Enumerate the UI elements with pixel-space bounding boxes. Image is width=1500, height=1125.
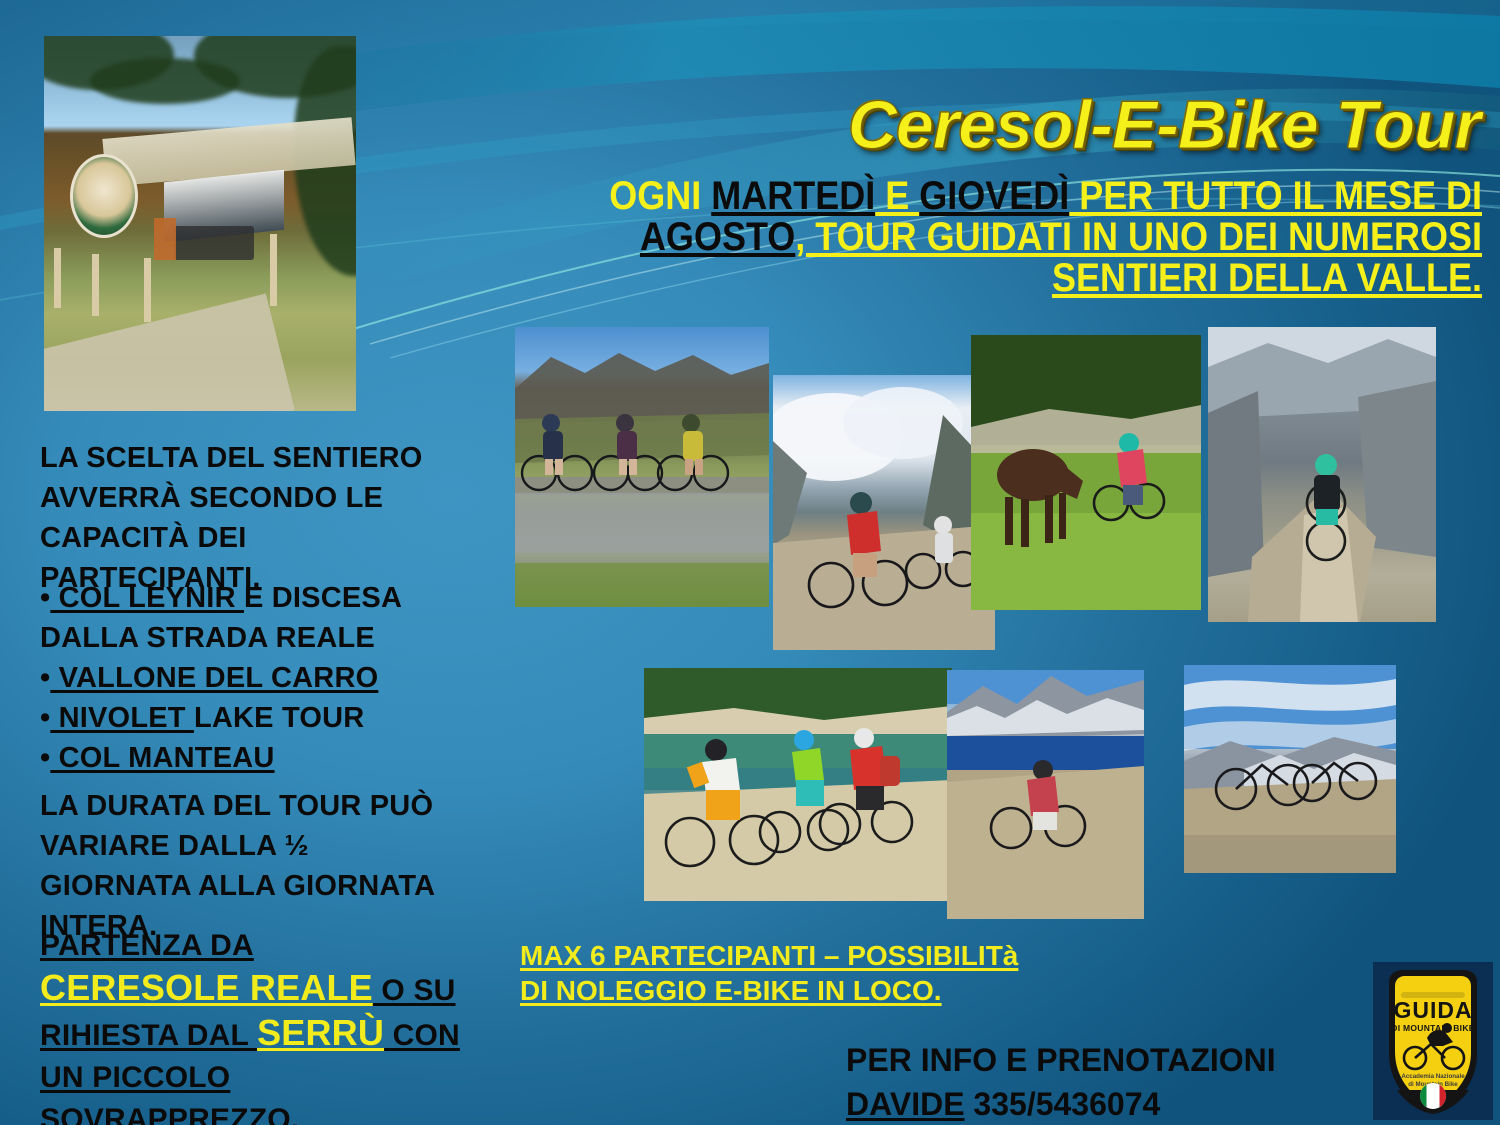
subtitle-part-ogni: OGNI <box>609 174 711 218</box>
list-item-link: VALLONE DEL CARRO <box>50 662 378 694</box>
photo-3 <box>971 335 1201 610</box>
partenza-place-serru: SERRÙ <box>257 1012 384 1053</box>
photo-1 <box>515 327 769 607</box>
photo-5-figures <box>644 668 952 901</box>
list-item: • NIVOLET LAKE TOUR <box>40 698 460 738</box>
bullet-glyph: • <box>40 702 50 734</box>
subtitle-part-e: E <box>875 174 919 218</box>
subtitle-part-martedi: MARTEDÌ <box>711 174 875 218</box>
subtitle-part-per-tutto: PER TUTTO IL MESE DI <box>1069 174 1482 218</box>
partenza-place-ceresole: CERESOLE REALE <box>40 967 373 1008</box>
photo-1-figures <box>515 327 769 607</box>
bullet-glyph: • <box>40 662 50 694</box>
subtitle-banner: OGNI MARTEDÌ E GIOVEDÌ PER TUTTO IL MESE… <box>535 176 1482 299</box>
trail-list: • COL LEYNIR E DISCESA DALLA STRADA REAL… <box>40 578 460 778</box>
chalet-photo <box>44 36 356 411</box>
photo-3-figures <box>971 335 1201 610</box>
contact-heading: PER INFO E PRENOTAZIONI <box>846 1038 1366 1082</box>
list-item: • VALLONE DEL CARRO <box>40 658 460 698</box>
page-title: Ceresol-E-Bike Tour <box>470 86 1480 164</box>
photo-5 <box>644 668 952 901</box>
subtitle-part-agosto: AGOSTO <box>640 215 795 259</box>
photo-7 <box>1184 665 1396 873</box>
list-item: • COL MANTEAU <box>40 738 460 778</box>
svg-text:GUIDA: GUIDA <box>1393 997 1472 1023</box>
list-item-rest: LAKE TOUR <box>194 702 364 734</box>
contact-name: DAVIDE <box>846 1086 965 1122</box>
max-participants-note: MAX 6 PARTECIPANTI – POSSIBILITà DI NOLE… <box>520 938 1160 1008</box>
svg-text:Accademia Nazionale: Accademia Nazionale <box>1401 1073 1465 1080</box>
paragraph-partenza: PARTENZA DA CERESOLE REALE O SU RIHIESTA… <box>40 925 460 1125</box>
guide-logo: GUIDA DI MOUNTAIN BIKE Accademia Naziona… <box>1373 962 1493 1120</box>
paragraph-durata: LA DURATA DEL TOUR PUÒ VARIARE DALLA ½ G… <box>40 786 460 946</box>
photo-6 <box>947 670 1144 919</box>
max-participants-line2: DI NOLEGGIO E-BIKE IN LOCO. <box>520 973 1160 1008</box>
photo-6-figures <box>947 670 1144 919</box>
partenza-prefix: PARTENZA DA <box>40 929 254 962</box>
bullet-glyph: • <box>40 582 50 614</box>
subtitle-part-giovedi: GIOVEDÌ <box>919 174 1069 218</box>
list-item-link: NIVOLET <box>50 702 194 734</box>
poster-canvas: Ceresol-E-Bike Tour OGNI MARTEDÌ E GIOVE… <box>0 0 1500 1125</box>
photo-2-figures <box>773 375 995 650</box>
bullet-glyph: • <box>40 742 50 774</box>
photo-4-figures <box>1208 327 1436 622</box>
list-item-link: COL LEYNIR <box>50 582 244 614</box>
contact-line: DAVIDE 335/5436074 <box>846 1082 1366 1125</box>
contact-phone: 335/5436074 <box>965 1086 1161 1122</box>
paragraph-scelta: LA SCELTA DEL SENTIERO AVVERRÀ SECONDO L… <box>40 438 460 598</box>
subtitle-part-tour-guidati: , TOUR GUIDATI IN UNO DEI NUMEROSI SENTI… <box>795 215 1482 300</box>
contact-block: PER INFO E PRENOTAZIONI DAVIDE 335/54360… <box>846 1038 1366 1125</box>
photo-2 <box>773 375 995 650</box>
photo-7-figures <box>1184 665 1396 873</box>
list-item-link: COL MANTEAU <box>50 742 274 774</box>
max-participants-line1: MAX 6 PARTECIPANTI – POSSIBILITà <box>520 938 1160 973</box>
mountain-biker-shield-icon: GUIDA DI MOUNTAIN BIKE Accademia Naziona… <box>1373 962 1493 1120</box>
photo-4 <box>1208 327 1436 622</box>
list-item: • COL LEYNIR E DISCESA DALLA STRADA REAL… <box>40 578 460 658</box>
